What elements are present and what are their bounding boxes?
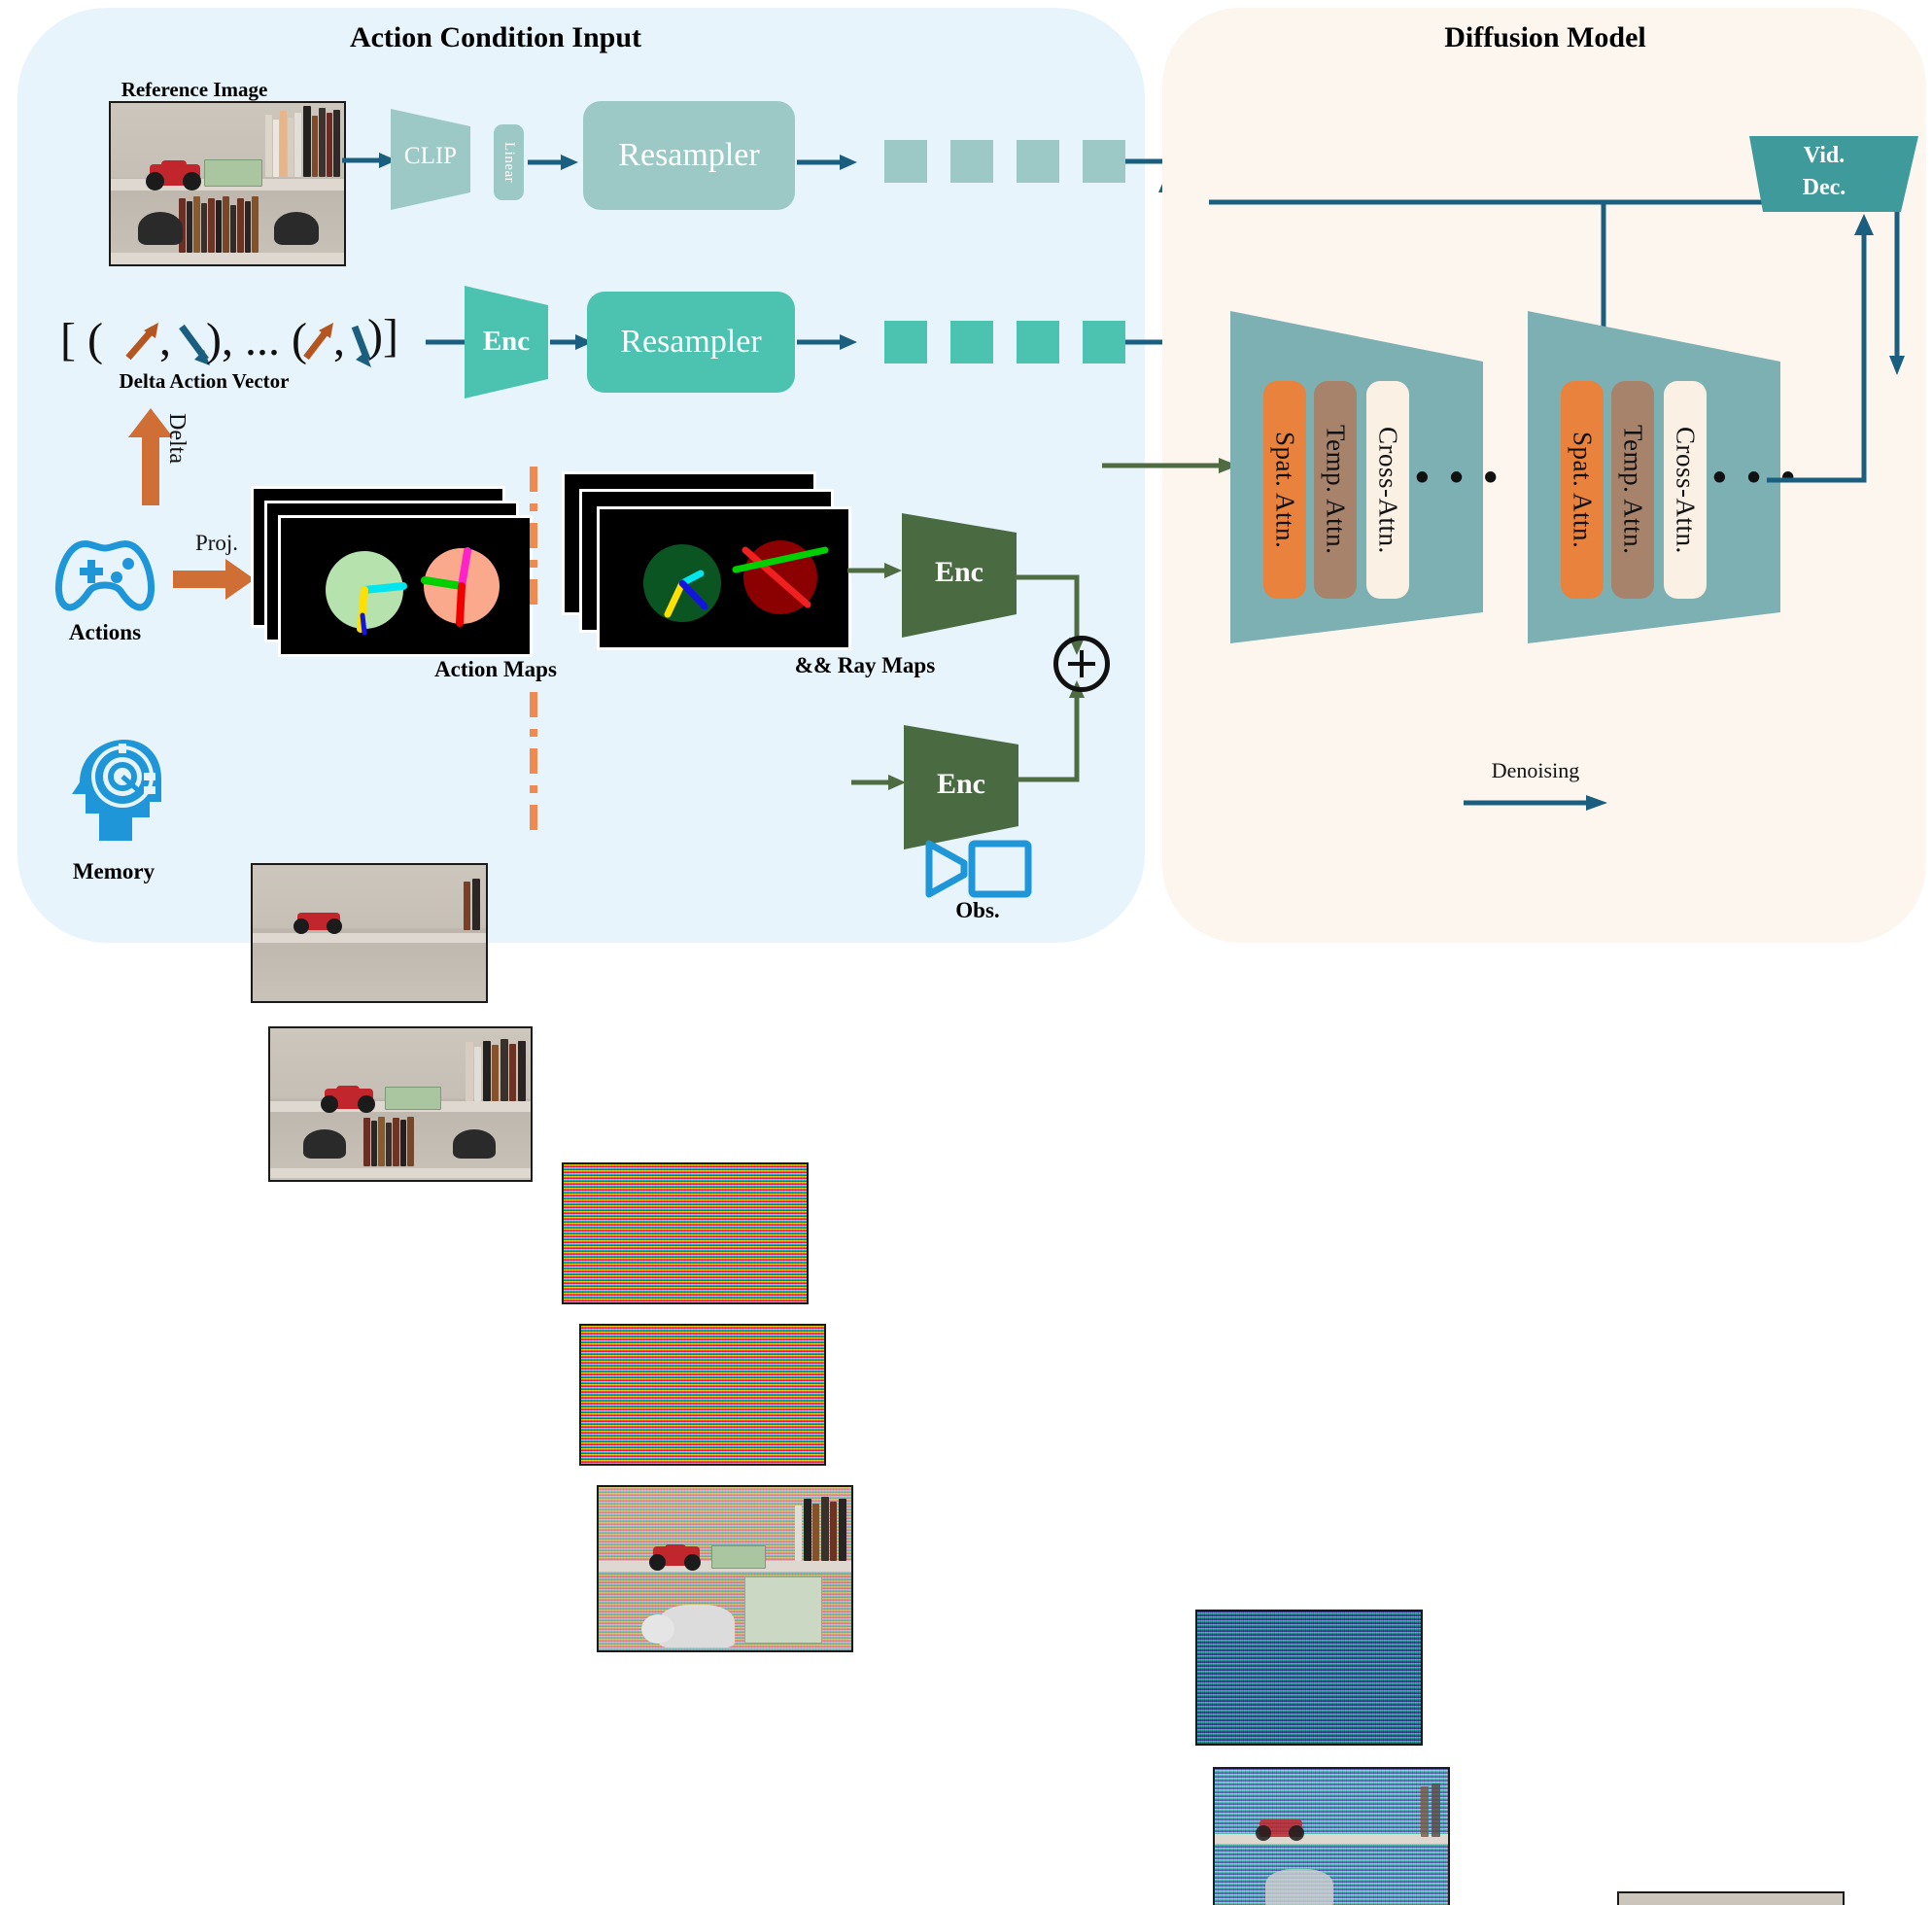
- enc-action-label: Enc: [465, 326, 548, 358]
- image-token-1: [884, 140, 927, 183]
- svg-text:[ (: [ (: [60, 314, 103, 365]
- delta-action-vector-expression: [ ( , ), ... ( ,: [58, 309, 379, 371]
- denoising-arrow: [1464, 789, 1609, 818]
- image-token-4: [1083, 140, 1125, 183]
- camera-icon: [925, 838, 1034, 898]
- image-token-3: [1017, 140, 1059, 183]
- arrow-resampler-to-image-tokens: [797, 146, 857, 179]
- denoise-input-back: [1195, 1610, 1423, 1746]
- delta-arrow-label: Delta: [163, 413, 190, 501]
- denoise-input-front: [1213, 1767, 1450, 1905]
- temporal-attn-label-1: Temp. Attn.: [1321, 425, 1351, 554]
- spatial-attn-label-2: Spat. Attn.: [1568, 432, 1598, 548]
- enc-obs-label: Enc: [904, 768, 1018, 801]
- resampler-action-label: Resampler: [620, 324, 761, 361]
- linear-block[interactable]: Linear: [494, 124, 524, 200]
- actions-label: Actions: [39, 620, 171, 645]
- memory-photo-front: [268, 1026, 533, 1182]
- action-token-3: [1017, 321, 1059, 364]
- video-decoder-label-line2: Dec.: [1730, 172, 1918, 204]
- right-panel-title: Diffusion Model: [1361, 21, 1730, 54]
- sum-node-latents: [1053, 636, 1110, 692]
- path-unet-to-viddec: [1759, 200, 1885, 492]
- obs-noisy-middle: [579, 1324, 826, 1466]
- reference-image-photo: [109, 101, 346, 266]
- arrow-obs-to-enc: [851, 766, 906, 799]
- image-token-2: [950, 140, 993, 183]
- resampler-action-block[interactable]: Resampler: [587, 292, 795, 393]
- delta-action-vector-label: Delta Action Vector: [78, 369, 330, 394]
- temporal-attn-1[interactable]: Temp. Attn.: [1314, 381, 1357, 599]
- delta-vector-closing-bracket: )]: [367, 309, 398, 363]
- left-panel-title: Action Condition Input: [321, 21, 671, 54]
- spatial-attn-label-1: Spat. Attn.: [1270, 432, 1300, 548]
- arrow-resampler-to-action-tokens: [797, 326, 857, 359]
- resampler-image-block[interactable]: Resampler: [583, 101, 795, 210]
- action-token-2: [950, 321, 993, 364]
- ray-map-front: [597, 506, 851, 650]
- ray-maps-label: && Ray Maps: [748, 653, 982, 678]
- svg-text:), ... (: ), ... (: [206, 314, 307, 365]
- reference-image-label: Reference Image: [97, 78, 292, 102]
- memory-label: Memory: [41, 859, 187, 884]
- arrow-linear-to-resampler: [528, 146, 578, 179]
- svg-text:,: ,: [333, 314, 345, 365]
- cross-attn-label-2: Cross-Attn.: [1671, 427, 1701, 554]
- temporal-attn-label-2: Temp. Attn.: [1618, 425, 1648, 554]
- memory-photo-back: [251, 863, 488, 1003]
- action-token-1: [884, 321, 927, 364]
- arrow-raymaps-to-enc: [847, 554, 902, 587]
- obs-label: Obs.: [921, 898, 1034, 923]
- temporal-attn-2[interactable]: Temp. Attn.: [1611, 381, 1654, 599]
- denoising-label: Denoising: [1458, 758, 1613, 783]
- cross-attn-2[interactable]: Cross-Attn.: [1664, 381, 1707, 599]
- divider-dashdot-lower: [528, 692, 539, 863]
- cross-attn-label-1: Cross-Attn.: [1373, 427, 1403, 554]
- memory-icon: [60, 734, 161, 850]
- svg-text:,: ,: [159, 314, 171, 365]
- action-token-4: [1083, 321, 1125, 364]
- arrow-refimg-to-clip: [342, 144, 397, 177]
- video-decoder-label-line1: Vid.: [1730, 140, 1918, 172]
- enc-raymaps-label: Enc: [902, 556, 1017, 589]
- linear-label: Linear: [500, 142, 517, 183]
- action-maps-label: Action Maps: [389, 657, 603, 682]
- proj-arrow: [173, 559, 255, 600]
- clip-label: CLIP: [391, 143, 470, 170]
- resampler-image-label: Resampler: [618, 137, 759, 174]
- unet-ellipsis-1: • • •: [1415, 455, 1502, 502]
- spatial-attn-2[interactable]: Spat. Attn.: [1561, 381, 1604, 599]
- obs-photo-front: [597, 1485, 853, 1652]
- denoise-output-back: [1617, 1891, 1845, 1905]
- action-map-front: [278, 515, 533, 657]
- cross-attn-1[interactable]: Cross-Attn.: [1366, 381, 1409, 599]
- video-decoder-label: Vid. Dec.: [1730, 140, 1918, 204]
- proj-label: Proj.: [173, 531, 260, 556]
- spatial-attn-1[interactable]: Spat. Attn.: [1263, 381, 1306, 599]
- obs-noisy-back: [562, 1162, 809, 1304]
- gamepad-icon: [47, 535, 163, 614]
- arrow-sum-to-unet: [1102, 449, 1238, 482]
- divider-dashdot-upper: [528, 467, 539, 638]
